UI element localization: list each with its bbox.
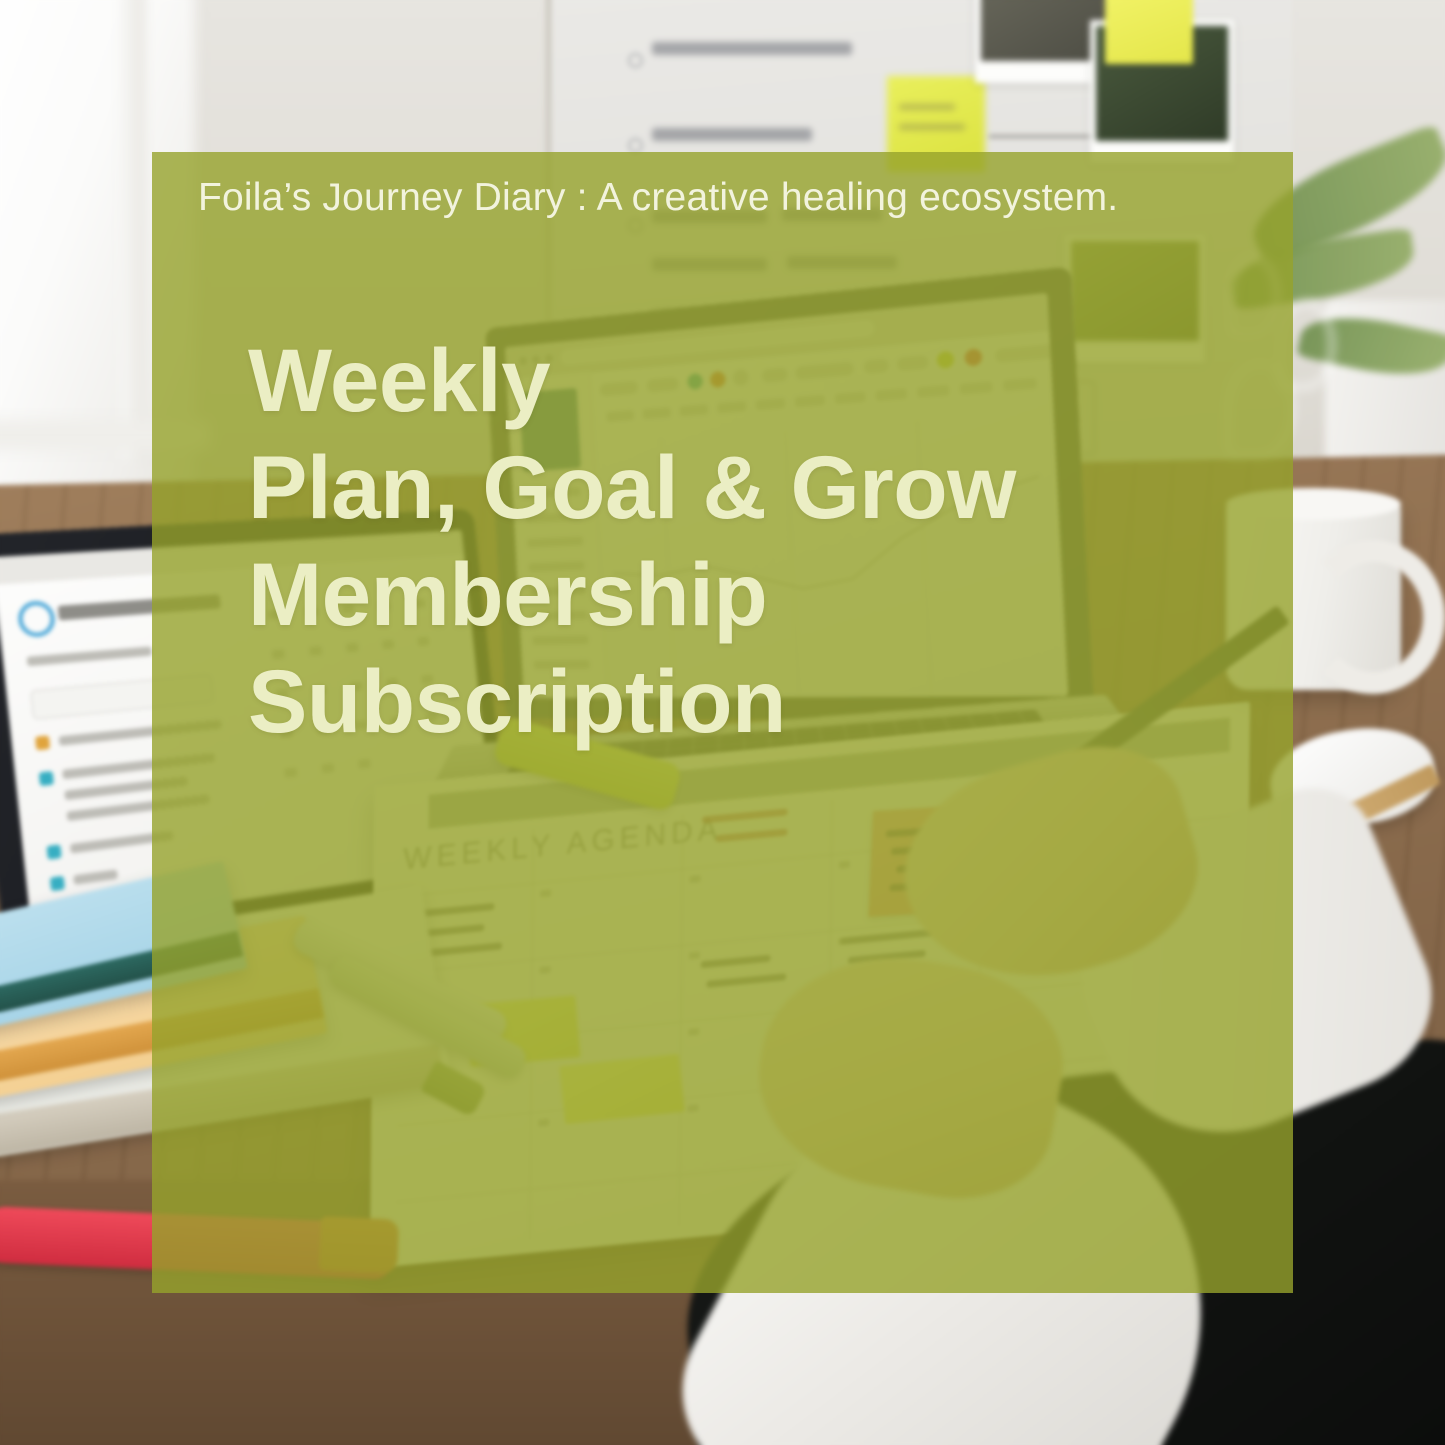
- olive-overlay-panel: Foila’s Journey Diary : A creative heali…: [152, 152, 1293, 1293]
- tagline: Foila’s Journey Diary : A creative heali…: [198, 176, 1118, 220]
- mug-handle: [1301, 540, 1445, 694]
- poster-canvas: WEEKLY AGENDA: [0, 0, 1445, 1445]
- headline-line-2: Plan, Goal & Grow: [248, 434, 1016, 541]
- window-frame: [120, 0, 146, 460]
- headline-line-1: Weekly: [248, 327, 1016, 434]
- headline: Weekly Plan, Goal & Grow Membership Subs…: [248, 327, 1016, 755]
- headline-line-4: Subscription: [248, 648, 1016, 755]
- whiteboard-sticky-right: [1105, 0, 1193, 64]
- headline-line-3: Membership: [248, 541, 1016, 648]
